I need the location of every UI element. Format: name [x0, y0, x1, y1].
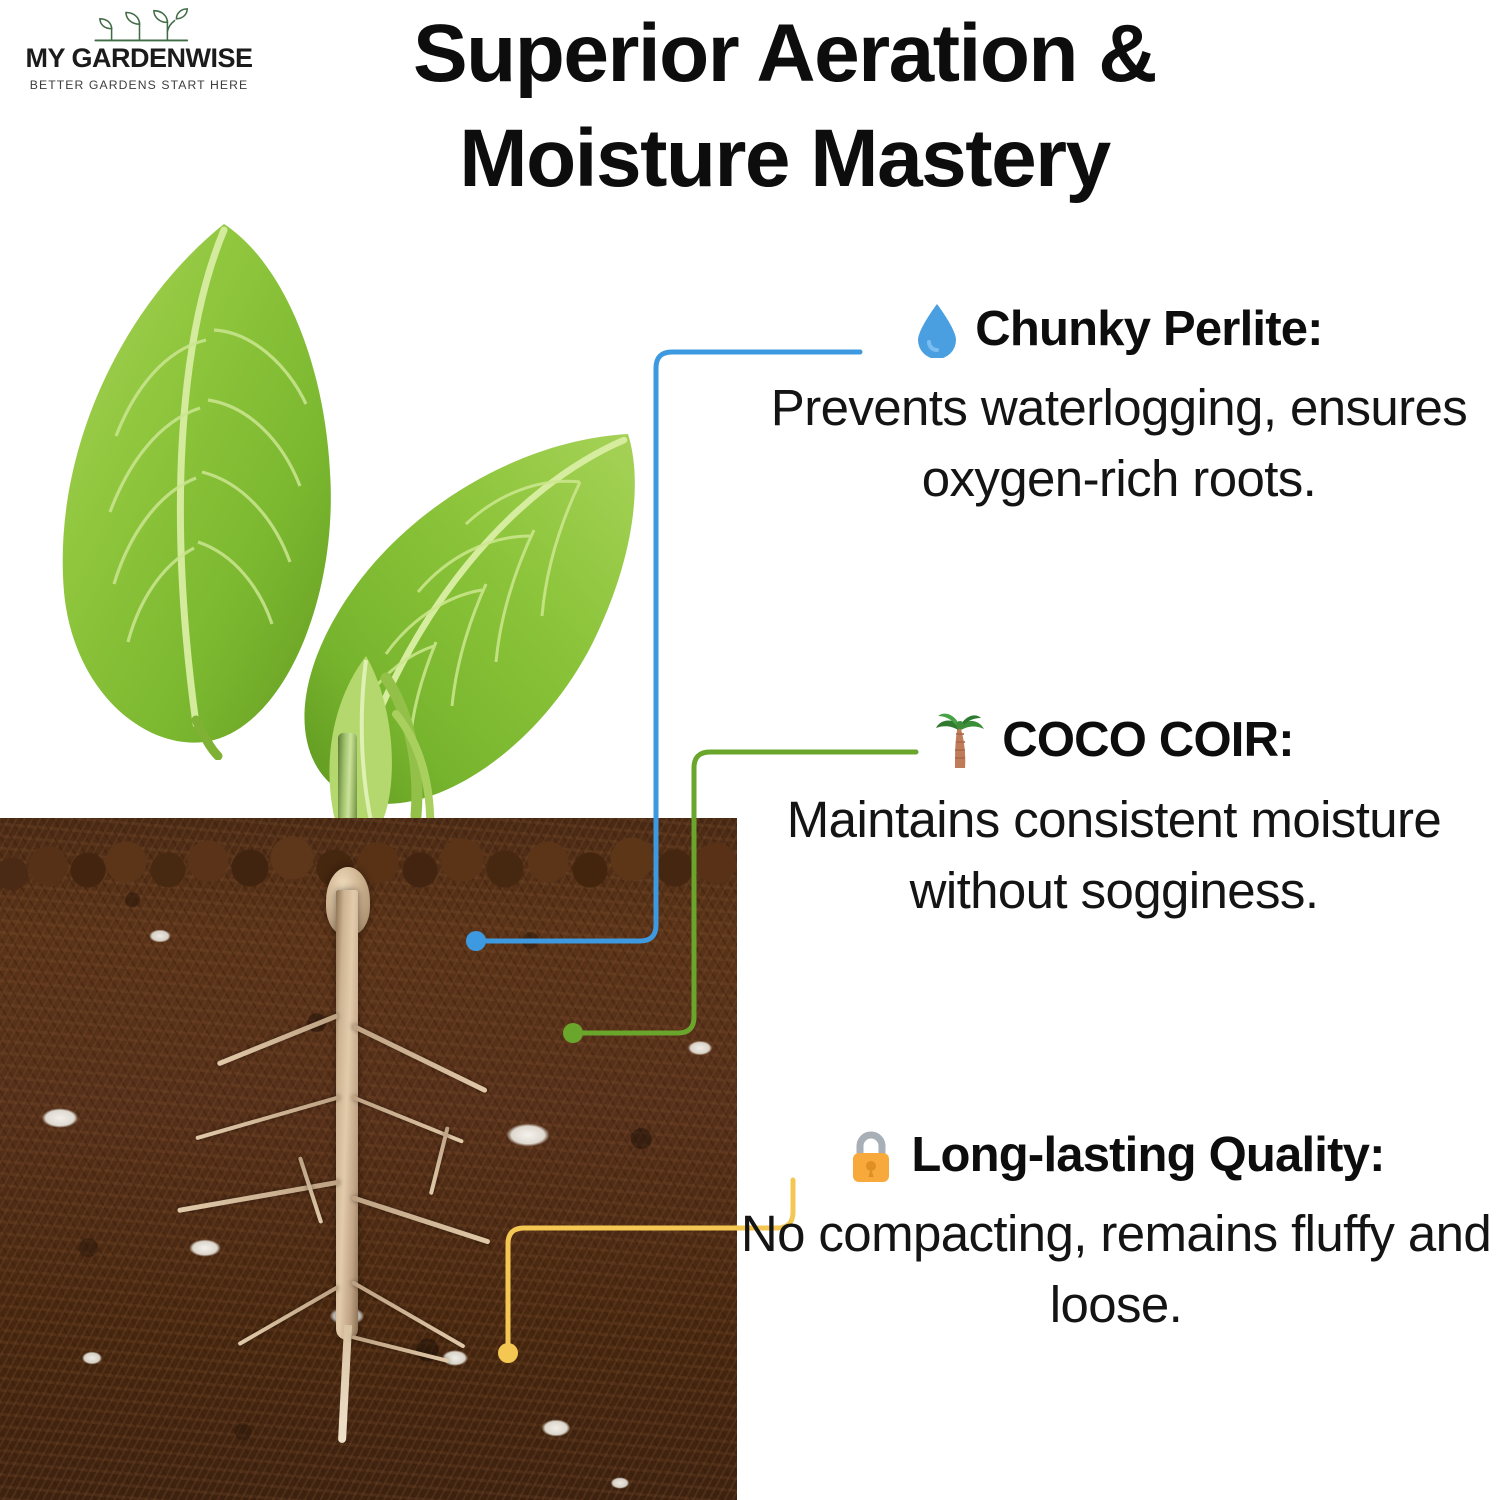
- feature-title: Long-lasting Quality:: [911, 1130, 1384, 1181]
- seedling-cross-section-photo: [0, 195, 737, 1500]
- feature-body: Prevents waterlogging, ensures oxygen-ri…: [762, 372, 1476, 515]
- feature-title: COCO COIR:: [1002, 715, 1293, 766]
- feature-heading: Chunky Perlite:: [762, 302, 1476, 358]
- brand-logo: MY GARDENWISE BETTER GARDENS START HERE: [14, 8, 264, 92]
- feature-title: Chunky Perlite:: [975, 304, 1322, 355]
- taproot: [336, 890, 358, 1340]
- feature-chunky-perlite: Chunky Perlite: Prevents waterlogging, e…: [762, 302, 1476, 515]
- soil-cross-section: [0, 818, 737, 1500]
- feature-heading: Long-lasting Quality:: [740, 1128, 1492, 1184]
- brand-tagline: BETTER GARDENS START HERE: [14, 79, 264, 91]
- brand-name: MY GARDENWISE: [14, 45, 264, 72]
- feature-heading: COCO COIR:: [752, 712, 1476, 770]
- water-droplet-icon: [915, 302, 959, 358]
- infographic-canvas: MY GARDENWISE BETTER GARDENS START HERE …: [0, 0, 1497, 1500]
- soil-surface-crumbs: [0, 818, 737, 896]
- feature-long-lasting-quality: Long-lasting Quality: No compacting, rem…: [740, 1128, 1492, 1341]
- palm-tree-icon: [934, 712, 986, 770]
- title-line-1: Superior Aeration &: [413, 8, 1156, 99]
- page-title: Superior Aeration & Moisture Mastery: [292, 2, 1277, 212]
- feature-body: No compacting, remains fluffy and loose.: [740, 1198, 1492, 1341]
- feature-coco-coir: COCO COIR: Maintains consistent moisture…: [752, 712, 1476, 927]
- padlock-icon: [847, 1128, 895, 1184]
- three-sprout-leaves-icon: [72, 8, 207, 44]
- feature-body: Maintains consistent moisture without so…: [752, 784, 1476, 927]
